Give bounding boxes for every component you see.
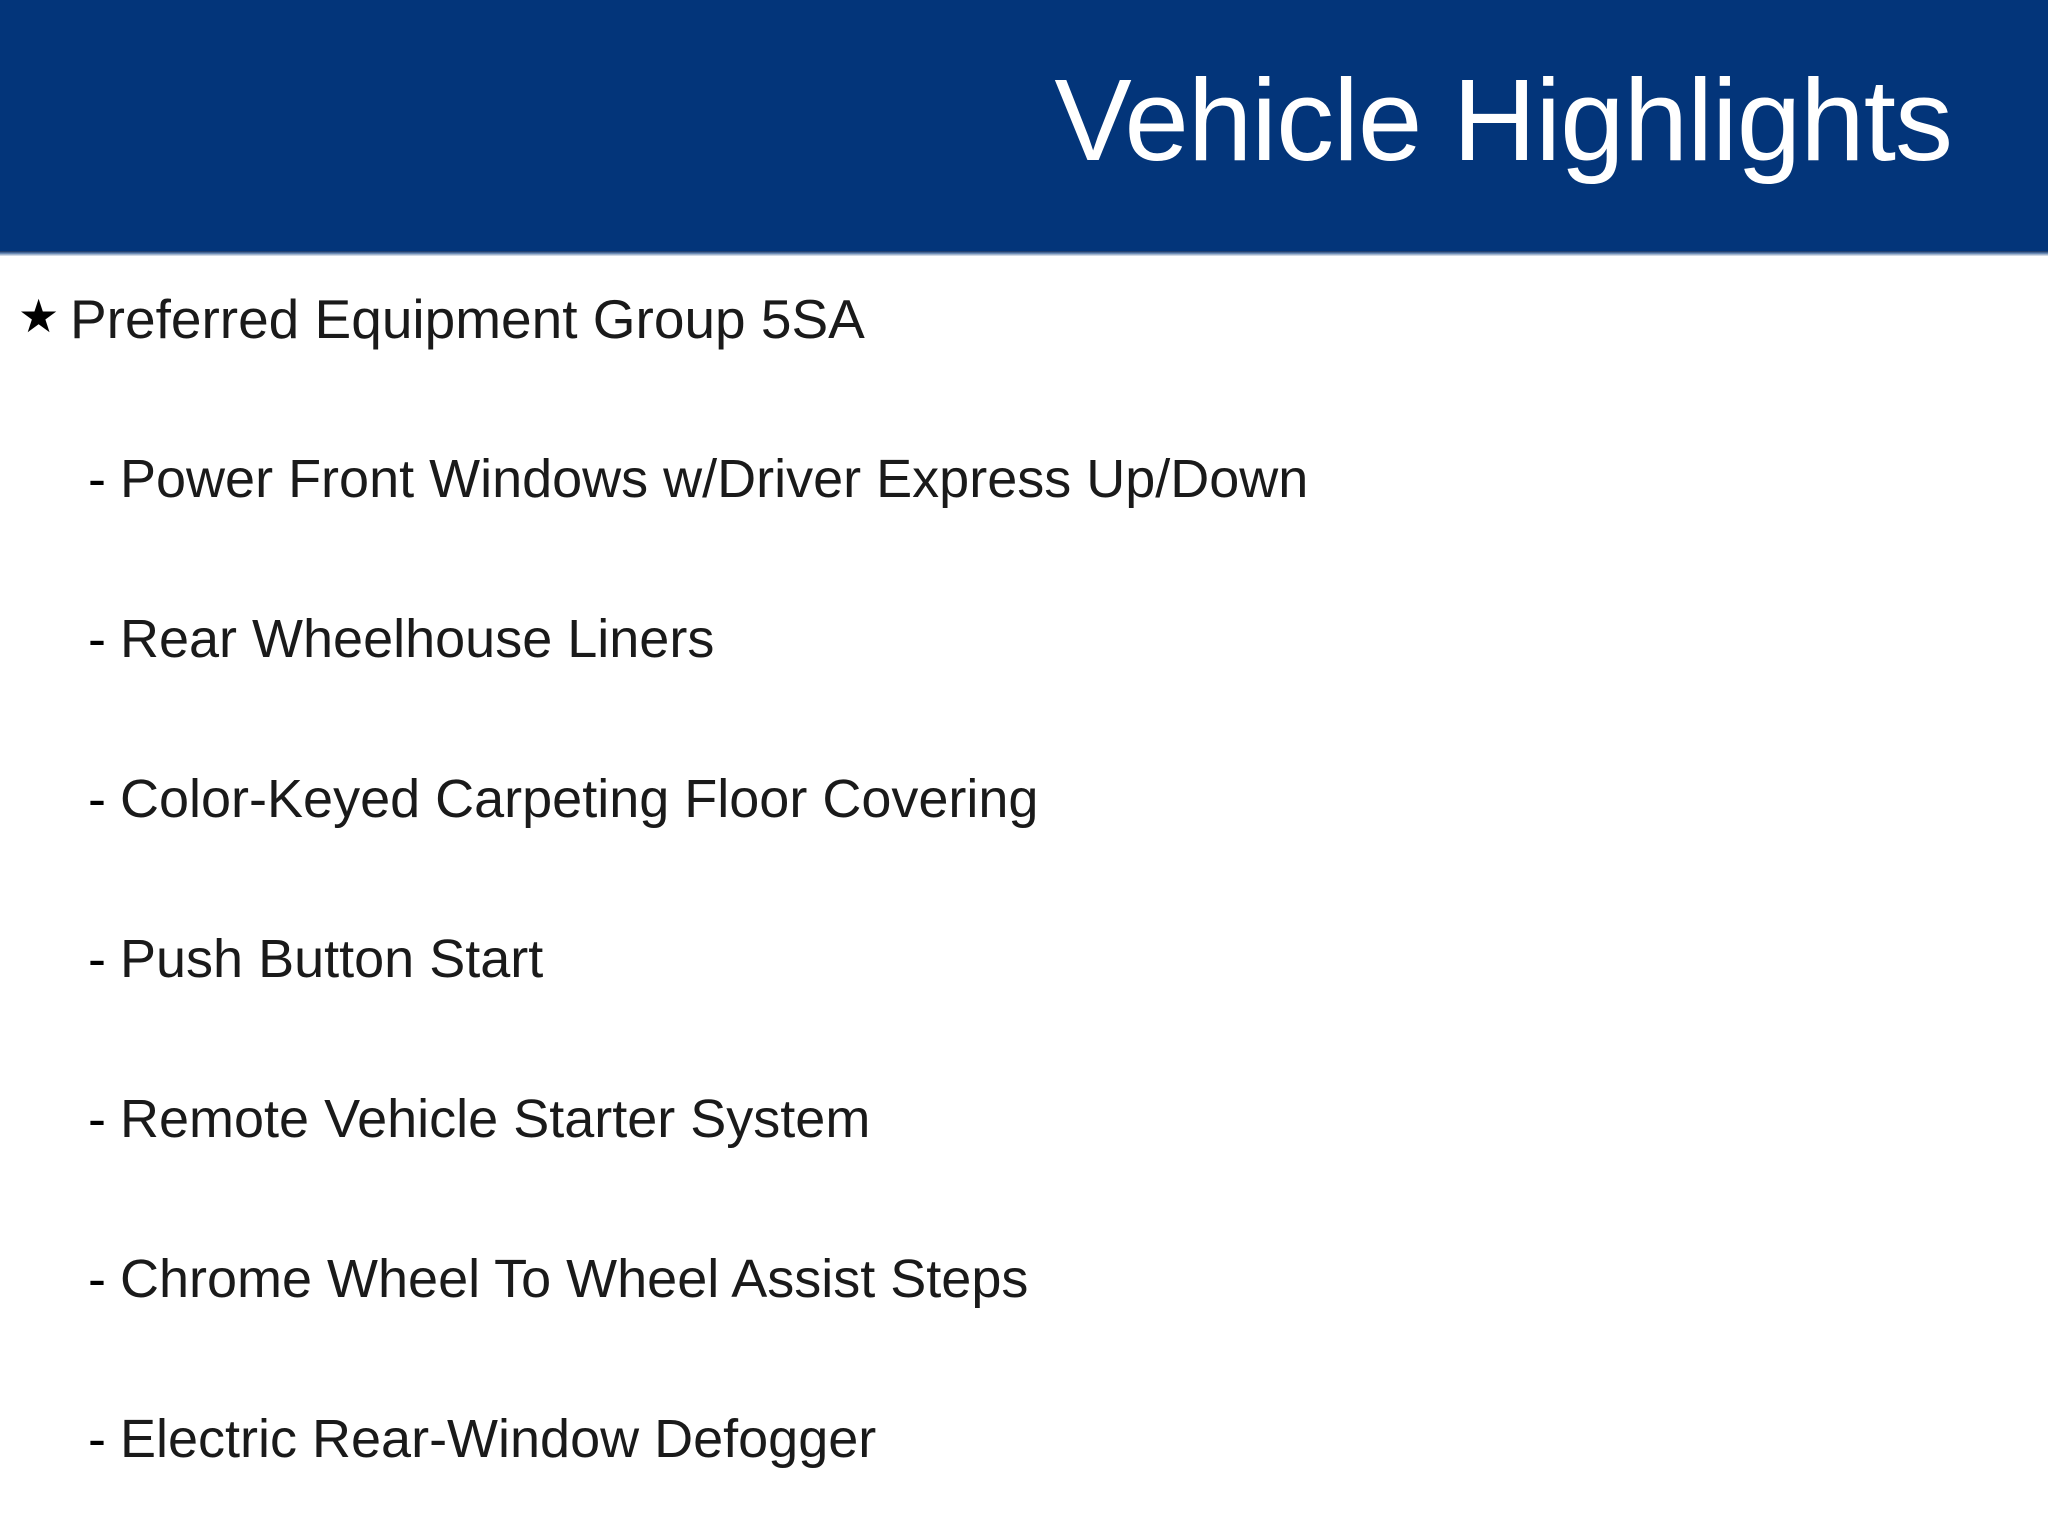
slide-body: ★Preferred Equipment Group 5SA-Power Fro…: [0, 256, 2048, 1536]
dash-bullet-icon: -: [88, 452, 120, 506]
list-item: -Color-Keyed Carpeting Floor Covering: [0, 772, 2048, 826]
dash-bullet-icon: -: [88, 932, 120, 986]
list-item-label: Remote Vehicle Starter System: [120, 1092, 870, 1146]
list-item: -Rear Wheelhouse Liners: [0, 612, 2048, 666]
list-item: -Remote Vehicle Starter System: [0, 1092, 2048, 1146]
list-item-label: Electric Rear-Window Defogger: [120, 1412, 876, 1466]
list-item-label: Power Front Windows w/Driver Express Up/…: [120, 452, 1308, 506]
list-item-label: Push Button Start: [120, 932, 543, 986]
list-item: -Power Front Windows w/Driver Express Up…: [0, 452, 2048, 506]
list-item: -Electric Rear-Window Defogger: [0, 1412, 2048, 1466]
list-item: -Push Button Start: [0, 932, 2048, 986]
list-item: -Chrome Wheel To Wheel Assist Steps: [0, 1252, 2048, 1306]
dash-bullet-icon: -: [88, 612, 120, 666]
dash-bullet-icon: -: [88, 1092, 120, 1146]
dash-bullet-icon: -: [88, 1412, 120, 1466]
list-item-label: Rear Wheelhouse Liners: [120, 612, 714, 666]
dash-bullet-icon: -: [88, 1252, 120, 1306]
star-bullet-icon: ★: [18, 293, 70, 339]
dash-bullet-icon: -: [88, 772, 120, 826]
slide-header-bar: Vehicle Highlights: [0, 0, 2048, 256]
list-item-label: Color-Keyed Carpeting Floor Covering: [120, 772, 1038, 826]
list-item-label: Preferred Equipment Group 5SA: [70, 292, 865, 347]
slide-root: Vehicle Highlights ★Preferred Equipment …: [0, 0, 2048, 1536]
page-title: Vehicle Highlights: [1054, 62, 1952, 178]
list-item-label: Chrome Wheel To Wheel Assist Steps: [120, 1252, 1028, 1306]
list-item: ★Preferred Equipment Group 5SA: [0, 292, 2048, 347]
